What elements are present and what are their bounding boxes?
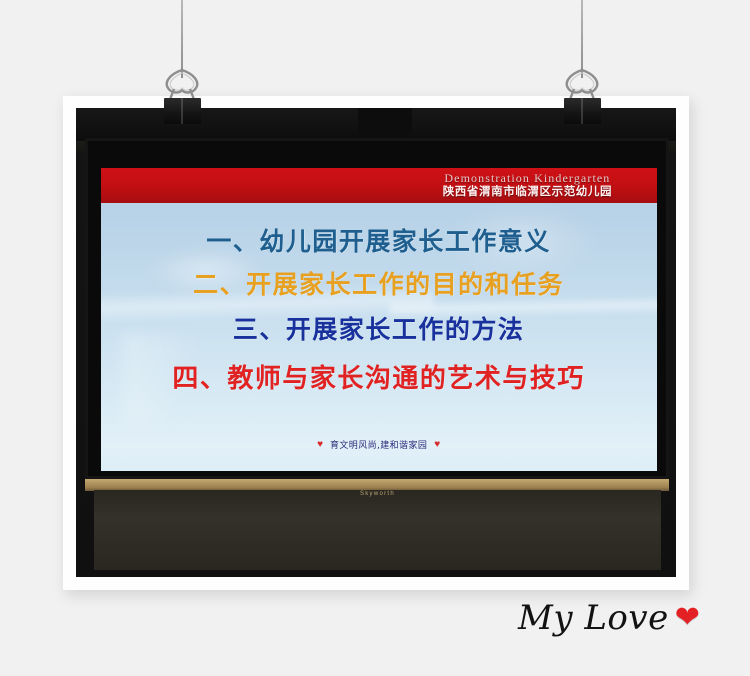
slide-line-3: 三、开展家长工作的方法	[101, 310, 657, 346]
binder-clip-body-left	[164, 98, 201, 124]
tv-bezel: Demonstration Kindergarten 陕西省渭南市临渭区示范幼儿…	[85, 138, 669, 478]
banner-english-title: Demonstration Kindergarten	[443, 172, 612, 185]
slide-line-2: 二、开展家长工作的目的和任务	[101, 265, 657, 301]
tv-screen: Demonstration Kindergarten 陕西省渭南市临渭区示范幼儿…	[101, 168, 657, 470]
hanging-string-left	[181, 0, 183, 78]
slide-footer: ♥ 育文明风尚,建和谐家园 ♥	[101, 438, 657, 451]
slide-header-banner: Demonstration Kindergarten 陕西省渭南市临渭区示范幼儿…	[101, 168, 657, 203]
heart-icon-right: ♥	[434, 440, 440, 450]
banner-chinese-title: 陕西省渭南市临渭区示范幼儿园	[443, 186, 612, 198]
hanger-right	[552, 0, 612, 130]
photo-image: Demonstration Kindergarten 陕西省渭南市临渭区示范幼儿…	[76, 108, 676, 577]
tv-brand-logo: Skyworth	[94, 491, 661, 497]
heart-icon-signature: ❤	[675, 603, 700, 633]
slide-footer-text: 育文明风尚,建和谐家园	[330, 438, 427, 451]
binder-clip-body-right	[564, 98, 601, 124]
slide-line-1: 一、幼儿园开展家长工作意义	[101, 222, 657, 258]
slide-line-4: 四、教师与家长沟通的艺术与技巧	[101, 358, 657, 395]
hanger-left	[152, 0, 212, 130]
tv-lower-panel: Skyworth	[94, 490, 661, 570]
signature-text: My Love	[518, 598, 669, 638]
slide-content: 一、幼儿园开展家长工作意义 二、开展家长工作的目的和任务 三、开展家长工作的方法…	[101, 203, 657, 471]
television: Demonstration Kindergarten 陕西省渭南市临渭区示范幼儿…	[76, 108, 676, 577]
heart-icon-left: ♥	[317, 440, 323, 450]
hanging-string-right	[581, 0, 583, 78]
signature: My Love ❤	[518, 598, 700, 638]
banner-title-group: Demonstration Kindergarten 陕西省渭南市临渭区示范幼儿…	[443, 172, 612, 198]
photo-frame: Demonstration Kindergarten 陕西省渭南市临渭区示范幼儿…	[63, 96, 689, 590]
